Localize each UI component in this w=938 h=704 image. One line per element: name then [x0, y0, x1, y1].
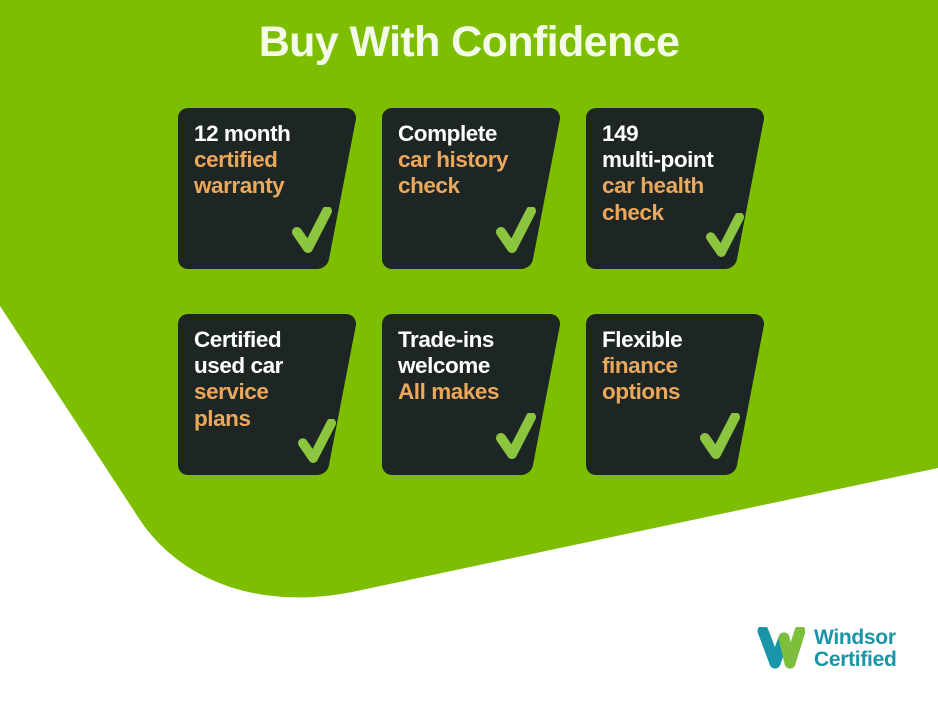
benefit-card-car-history-check[interactable]: Complete car history check — [382, 108, 560, 269]
checkmark-icon — [706, 213, 744, 261]
windsor-certified-logo[interactable]: Windsor Certified — [757, 627, 896, 672]
checkmark-icon — [292, 207, 332, 257]
checkmark-icon — [496, 207, 536, 257]
logo-line-2: Certified — [814, 649, 896, 671]
checkmark-icon — [496, 413, 536, 463]
benefit-card-certified-warranty[interactable]: 12 month certified warranty — [178, 108, 356, 269]
benefit-card-trade-ins-welcome[interactable]: Trade-ins welcome All makes — [382, 314, 560, 475]
page-title: Buy With Confidence — [0, 18, 938, 67]
logo-wordmark: Windsor Certified — [814, 627, 896, 672]
card-row-1: 12 month certified warranty Complete car… — [178, 108, 758, 269]
card-row-2: Certified used car service plans Trade-i… — [178, 314, 758, 475]
benefits-card-grid: 12 month certified warranty Complete car… — [178, 108, 758, 475]
checkmark-icon — [298, 419, 336, 467]
checkmark-icon — [700, 413, 740, 463]
benefit-card-multi-point-health-check[interactable]: 149 multi-point car health check — [586, 108, 764, 269]
windsor-w-icon — [757, 627, 805, 671]
logo-line-1: Windsor — [814, 627, 896, 649]
benefit-card-flexible-finance[interactable]: Flexible finance options — [586, 314, 764, 475]
benefit-card-service-plans[interactable]: Certified used car service plans — [178, 314, 356, 475]
slide-canvas: Buy With Confidence 12 month certified w… — [0, 0, 938, 704]
